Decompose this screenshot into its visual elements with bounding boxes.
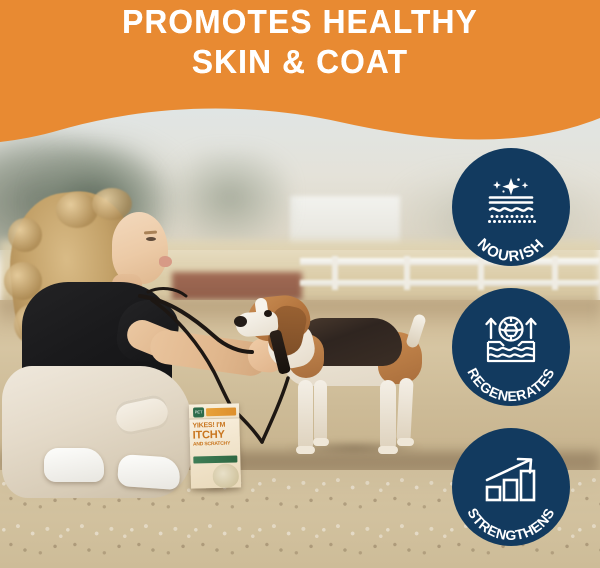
svg-text:STRENGTHENS: STRENGTHENS	[464, 505, 557, 543]
promo-graphic: PET YIKES! I'M ITCHY AND SCRATCHY PROMOT…	[0, 0, 600, 568]
badge-regenerates[interactable]: REGENERATES	[452, 288, 570, 406]
dog-paw	[296, 446, 315, 454]
dog-nose	[234, 316, 247, 327]
badge-label: NOURISH	[474, 235, 548, 265]
brand-logo: PET	[193, 407, 204, 417]
dog-front-leg	[298, 380, 313, 450]
banner-headline: PROMOTES HEALTHY SKIN & COAT	[0, 0, 600, 82]
dog-paw	[313, 438, 329, 446]
package-title-line2: ITCHY	[193, 429, 237, 441]
badge-label-arc: REGENERATES	[452, 288, 570, 406]
package-header: PET	[189, 403, 239, 419]
badge-label-arc: STRENGTHENS	[452, 428, 570, 546]
svg-text:REGENERATES: REGENERATES	[464, 365, 557, 404]
product-package: PET YIKES! I'M ITCHY AND SCRATCHY	[189, 403, 241, 488]
dog-front-leg	[314, 380, 327, 442]
dog-tail	[405, 313, 427, 349]
dog-hind-leg	[396, 378, 413, 443]
hair-curl	[8, 218, 42, 252]
dog-paw	[378, 446, 398, 454]
eye	[146, 237, 156, 241]
badge-label: STRENGTHENS	[464, 505, 557, 543]
badge-strengthens[interactable]: STRENGTHENS	[452, 428, 570, 546]
fence-post	[332, 256, 338, 290]
dog-eye	[264, 310, 272, 317]
dog-paw	[397, 438, 414, 446]
lips	[159, 256, 172, 267]
badge-nourish[interactable]: NOURISH	[452, 148, 570, 266]
headline-line-2: SKIN & COAT	[12, 42, 588, 82]
package-green-chip	[193, 455, 237, 463]
sneaker	[44, 448, 104, 482]
badge-label-arc: NOURISH	[452, 148, 570, 266]
package-banner-stripe	[206, 407, 236, 416]
headline-banner: PROMOTES HEALTHY SKIN & COAT	[0, 0, 600, 160]
background-building	[290, 196, 400, 244]
dog-hind-leg	[380, 380, 396, 450]
hair-curl	[56, 192, 98, 228]
package-title: YIKES! I'M ITCHY AND SCRATCHY	[192, 421, 237, 447]
headline-line-1: PROMOTES HEALTHY	[12, 2, 588, 42]
badge-label: REGENERATES	[464, 365, 557, 404]
beagle-dog	[250, 288, 450, 488]
fence-post	[404, 256, 410, 290]
svg-text:NOURISH: NOURISH	[474, 235, 548, 265]
package-product-photo	[212, 463, 239, 488]
package-title-line3: AND SCRATCHY	[193, 441, 237, 447]
